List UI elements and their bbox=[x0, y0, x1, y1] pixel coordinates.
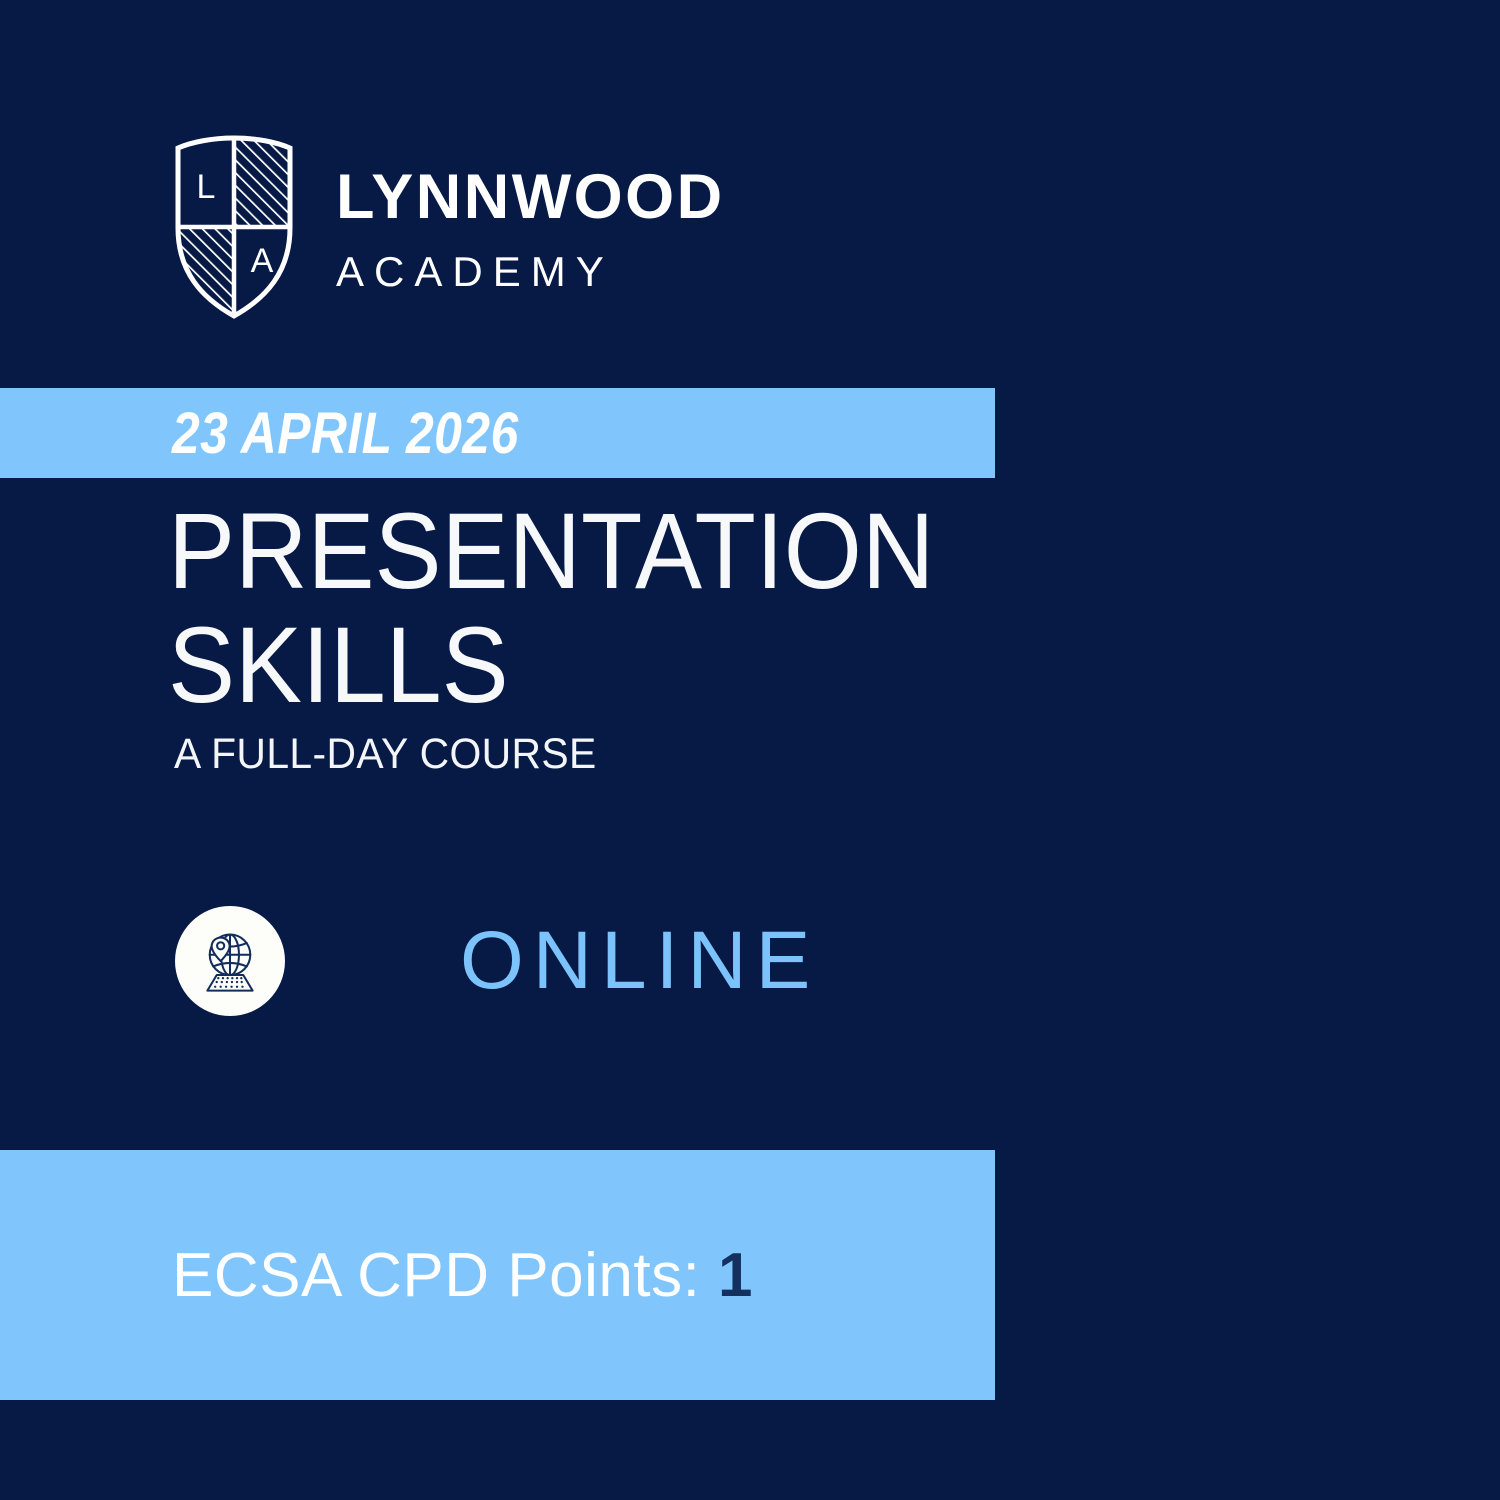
brand-name-primary: LYNNWOOD bbox=[336, 166, 725, 229]
delivery-mode-label: ONLINE bbox=[460, 920, 819, 1002]
course-date: 23 APRIL 2026 bbox=[172, 400, 519, 467]
brand-name-secondary: ACADEMY bbox=[336, 251, 725, 293]
svg-text:A: A bbox=[251, 242, 274, 280]
cpd-points-banner: ECSA CPD Points: 1 bbox=[0, 1150, 995, 1400]
cpd-points-label: ECSA CPD Points: bbox=[172, 1241, 700, 1310]
course-title: PRESENTATION SKILLS bbox=[168, 494, 1268, 723]
globe-keyboard-icon bbox=[175, 906, 285, 1016]
cpd-points-value: 1 bbox=[718, 1241, 753, 1310]
delivery-mode: ONLINE bbox=[175, 906, 819, 1016]
course-title-line-2: SKILLS bbox=[168, 608, 1191, 722]
course-title-line-1: PRESENTATION bbox=[168, 494, 1191, 608]
course-poster: L A LYNNWOOD ACADEMY 23 APRIL 2026 PRESE… bbox=[0, 0, 1500, 1500]
brand-wordmark: LYNNWOOD ACADEMY bbox=[336, 162, 725, 293]
date-banner: 23 APRIL 2026 bbox=[0, 388, 995, 478]
cpd-points-text: ECSA CPD Points: 1 bbox=[172, 1240, 753, 1311]
brand-logo: L A LYNNWOOD ACADEMY bbox=[168, 132, 725, 322]
course-subtitle: A FULL-DAY COURSE bbox=[174, 730, 597, 779]
shield-crest-icon: L A bbox=[168, 132, 300, 322]
svg-text:L: L bbox=[197, 168, 216, 206]
